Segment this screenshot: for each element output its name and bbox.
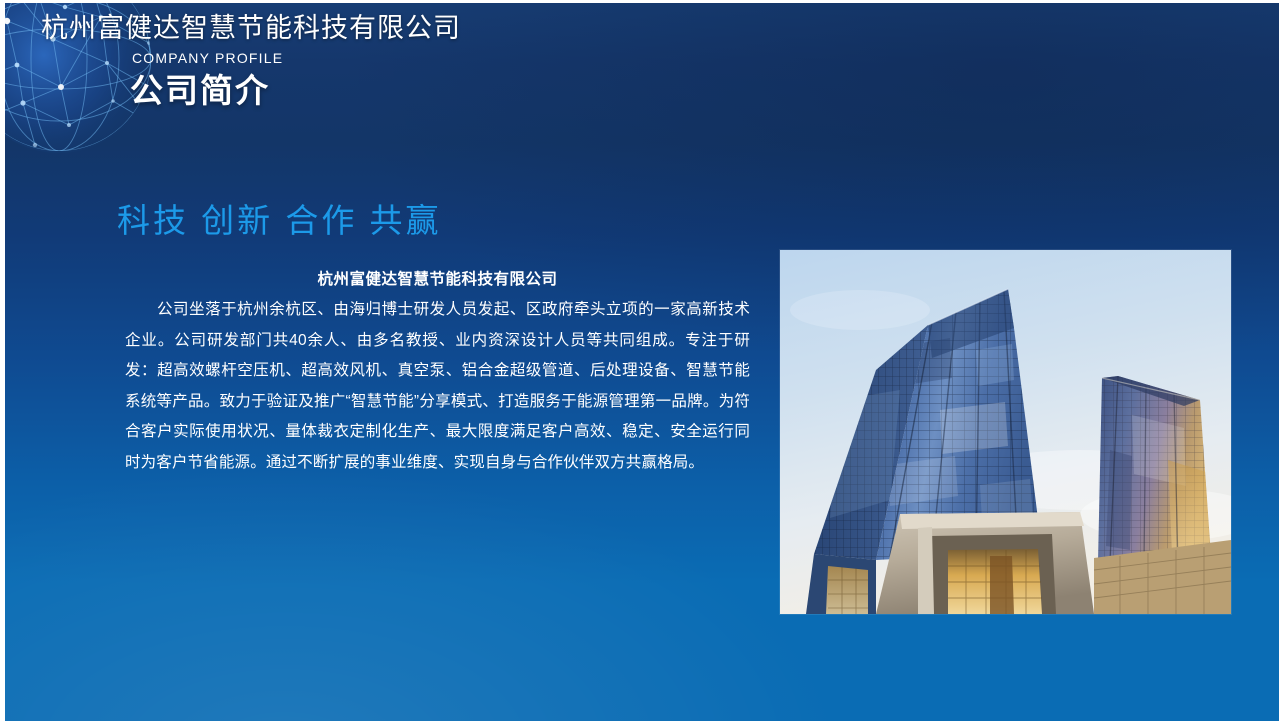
body-paragraph: 公司坐落于杭州余杭区、由海归博士研发人员发起、区政府牵头立项的一家高新技术企业。… (125, 295, 750, 478)
header-band: 杭州富健达智慧节能科技有限公司 COMPANY PROFILE 公司简介 (5, 3, 1279, 141)
page-title: 公司简介 (130, 70, 461, 112)
office-towers-photo (780, 250, 1231, 614)
slide-canvas: 杭州富健达智慧节能科技有限公司 COMPANY PROFILE 公司简介 科技 … (5, 3, 1279, 721)
header-company-name: 杭州富健达智慧节能科技有限公司 (41, 11, 461, 45)
body-company-name: 杭州富健达智慧节能科技有限公司 (125, 265, 750, 295)
tagline: 科技 创新 合作 共赢 (117, 199, 442, 243)
body-text-block: 杭州富健达智慧节能科技有限公司 公司坐落于杭州余杭区、由海归博士研发人员发起、区… (125, 265, 750, 478)
header-subtitle-en: COMPANY PROFILE (132, 49, 461, 67)
header-text-group: 杭州富健达智慧节能科技有限公司 COMPANY PROFILE 公司简介 (41, 11, 461, 112)
